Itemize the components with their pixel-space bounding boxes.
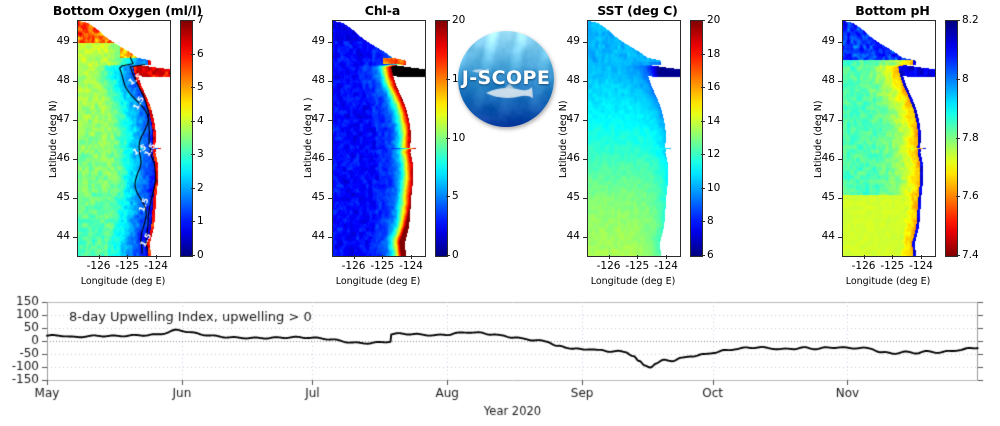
figure-root: Bottom Oxygen (ml/l) 494847464544-126-12…	[0, 0, 1000, 426]
colorbar-tick-label: 6	[197, 48, 204, 60]
map-ylabel-bottom-ph: Latitude (deg N)	[813, 100, 824, 178]
colorbar-tick-label: 7.8	[962, 132, 979, 144]
colorbar-tick-mark	[956, 138, 960, 139]
colorbar-tick-mark	[956, 255, 960, 256]
colorbar-tick-label: 12	[707, 148, 720, 160]
map-ytick-mark	[73, 237, 77, 238]
colorbar-tick-label: 7.6	[962, 190, 979, 202]
colorbar-tick-mark	[956, 79, 960, 80]
colorbar-tick-mark	[701, 20, 705, 21]
colorbar-tick-label: 5	[197, 81, 204, 93]
colorbar-tick-mark	[191, 255, 195, 256]
map-ytick-mark	[838, 159, 842, 160]
map-ytick-mark	[73, 81, 77, 82]
map-ytick-label: 49	[298, 35, 325, 47]
colorbar-tick-mark	[446, 255, 450, 256]
colorbar-tick-label: 5	[452, 190, 459, 202]
map-panel-bottom-ph: Bottom pH 494847464544-126-125-124Latitu…	[805, 0, 980, 292]
map-ytick-label: 49	[808, 35, 835, 47]
map-xlabel-sst: Longitude (deg E)	[567, 276, 699, 287]
map-image-hypoxia-oxygen	[78, 21, 170, 256]
map-ytick-label: 48	[553, 74, 580, 86]
map-ytick-label: 48	[808, 74, 835, 86]
map-ytick-mark	[583, 42, 587, 43]
map-ytick-mark	[583, 237, 587, 238]
colorbar-tick-label: 0	[452, 249, 459, 261]
colorbar-tick-mark	[701, 154, 705, 155]
panel-title-bottom-ph: Bottom pH	[805, 3, 980, 18]
map-ytick-mark	[328, 81, 332, 82]
map-ytick-label: 45	[43, 191, 70, 203]
map-ytick-label: 48	[43, 74, 70, 86]
colorbar-tick-mark	[701, 255, 705, 256]
map-ytick-mark	[328, 159, 332, 160]
colorbar-tick-label: 16	[707, 81, 720, 93]
colorbar-tick-label: 20	[707, 14, 720, 26]
map-ytick-mark	[583, 81, 587, 82]
map-xlabel-bottom-ph: Longitude (deg E)	[822, 276, 954, 287]
map-axes-bottom-oxygen	[77, 20, 171, 257]
colorbar-tick-label: 10	[707, 182, 720, 194]
colorbar-tick-label: 4	[197, 115, 204, 127]
colorbar-tick-label: 18	[707, 48, 720, 60]
map-xtick-mark	[382, 255, 383, 259]
map-ytick-mark	[583, 159, 587, 160]
colorbar-tick-mark	[701, 54, 705, 55]
panel-title-sst: SST (deg C)	[550, 3, 725, 18]
map-xtick-mark	[637, 255, 638, 259]
colorbar-bottom-ph	[945, 20, 958, 257]
map-ytick-label: 44	[43, 230, 70, 242]
map-ytick-mark	[583, 198, 587, 199]
map-ytick-label: 49	[43, 35, 70, 47]
map-ytick-mark	[583, 120, 587, 121]
map-ytick-mark	[838, 81, 842, 82]
colorbar-tick-mark	[701, 188, 705, 189]
map-ytick-label: 45	[298, 191, 325, 203]
map-xtick-mark	[99, 255, 100, 259]
map-image-chlorophyll	[333, 21, 425, 256]
map-ytick-label: 44	[298, 230, 325, 242]
map-axes-chl-a	[332, 20, 426, 257]
map-xtick-mark	[609, 255, 610, 259]
map-axes-sst	[587, 20, 681, 257]
panel-title-chl-a: Chl-a	[295, 3, 470, 18]
colorbar-tick-mark	[701, 221, 705, 222]
colorbar-tick-mark	[956, 20, 960, 21]
colorbar-tick-mark	[191, 154, 195, 155]
map-ytick-mark	[328, 198, 332, 199]
upwelling-index-chart	[0, 292, 1000, 426]
colorbar-tick-label: 8.2	[962, 14, 979, 26]
map-axes-bottom-ph	[842, 20, 936, 257]
map-panel-sst: SST (deg C) 494847464544-126-125-124Lati…	[550, 0, 725, 292]
map-ylabel-bottom-oxygen: Latitude (deg N)	[48, 100, 59, 178]
map-xtick-label: -124	[389, 260, 433, 272]
colorbar-tick-label: 8	[707, 215, 714, 227]
colorbar-chl-a	[435, 20, 448, 257]
map-ytick-mark	[73, 198, 77, 199]
colorbar-tick-mark	[446, 138, 450, 139]
map-ytick-mark	[73, 120, 77, 121]
map-ytick-mark	[838, 198, 842, 199]
colorbar-tick-label: 3	[197, 148, 204, 160]
upwelling-index-plot-canvas	[0, 292, 1000, 426]
map-ytick-label: 48	[298, 74, 325, 86]
colorbar-tick-label: 20	[452, 14, 465, 26]
map-xtick-mark	[864, 255, 865, 259]
colorbar-tick-mark	[191, 54, 195, 55]
colorbar-tick-mark	[191, 221, 195, 222]
j-scope-logo-text: J-SCOPE	[458, 67, 554, 89]
panel-title-bottom-oxygen: Bottom Oxygen (ml/l)	[40, 3, 215, 18]
map-xtick-mark	[921, 255, 922, 259]
colorbar-tick-mark	[191, 87, 195, 88]
map-xtick-label: -124	[134, 260, 178, 272]
colorbar-tick-label: 7	[197, 14, 204, 26]
map-ytick-label: 45	[808, 191, 835, 203]
map-ytick-mark	[838, 42, 842, 43]
map-ytick-label: 44	[808, 230, 835, 242]
colorbar-tick-mark	[191, 20, 195, 21]
colorbar-tick-mark	[446, 79, 450, 80]
map-ytick-mark	[838, 120, 842, 121]
map-image-bottom-ph	[843, 21, 935, 256]
colorbar-tick-label: 8	[962, 73, 969, 85]
map-ylabel-chl-a: Latitude (deg N )	[303, 97, 314, 178]
map-xtick-label: -124	[644, 260, 688, 272]
map-xtick-mark	[892, 255, 893, 259]
map-panel-bottom-oxygen: Bottom Oxygen (ml/l) 494847464544-126-12…	[40, 0, 215, 292]
map-ytick-mark	[73, 159, 77, 160]
map-xtick-label: -124	[899, 260, 943, 272]
map-ytick-mark	[73, 42, 77, 43]
map-xtick-mark	[156, 255, 157, 259]
colorbar-tick-mark	[956, 196, 960, 197]
map-xtick-mark	[354, 255, 355, 259]
map-xtick-mark	[666, 255, 667, 259]
colorbar-tick-mark	[191, 188, 195, 189]
colorbar-tick-label: 1	[197, 215, 204, 227]
colorbar-tick-label: 6	[707, 249, 714, 261]
map-image-sea-surface-temperature	[588, 21, 680, 256]
map-ytick-mark	[328, 237, 332, 238]
colorbar-tick-mark	[446, 20, 450, 21]
j-scope-logo: J-SCOPE	[458, 31, 554, 127]
map-ytick-mark	[328, 120, 332, 121]
colorbar-tick-label: 7.4	[962, 249, 979, 261]
colorbar-tick-mark	[701, 87, 705, 88]
colorbar-tick-label: 0	[197, 249, 204, 261]
colorbar-tick-mark	[701, 121, 705, 122]
map-ytick-label: 49	[553, 35, 580, 47]
map-ytick-mark	[838, 237, 842, 238]
colorbar-tick-label: 10	[452, 132, 465, 144]
map-ytick-label: 44	[553, 230, 580, 242]
map-xlabel-chl-a: Longitude (deg E)	[312, 276, 444, 287]
colorbar-tick-label: 14	[707, 115, 720, 127]
colorbar-tick-mark	[446, 196, 450, 197]
colorbar-tick-label: 2	[197, 182, 204, 194]
map-xlabel-bottom-oxygen: Longitude (deg E)	[57, 276, 189, 287]
map-ytick-label: 45	[553, 191, 580, 203]
map-panel-chl-a: Chl-a 494847464544-126-125-124Latitude (…	[295, 0, 470, 292]
map-xtick-mark	[411, 255, 412, 259]
map-xtick-mark	[127, 255, 128, 259]
colorbar-tick-mark	[191, 121, 195, 122]
map-ytick-mark	[328, 42, 332, 43]
map-ylabel-sst: Latitude (deg N)	[558, 100, 569, 178]
